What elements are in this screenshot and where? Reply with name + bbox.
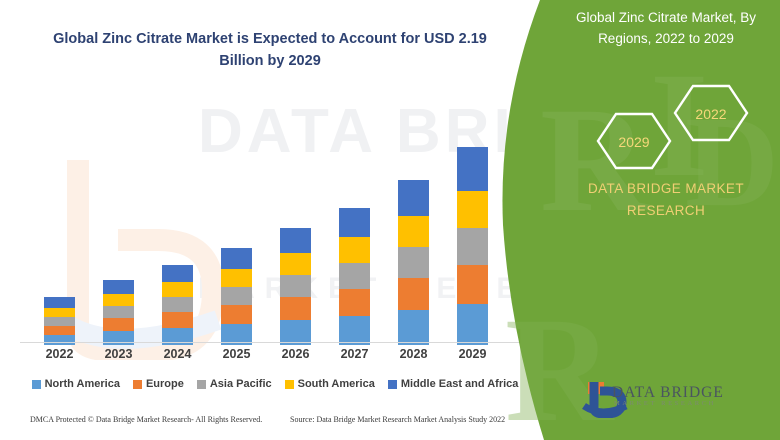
bar-segment-europe: [103, 318, 134, 331]
bar-segment-south-america: [280, 253, 311, 275]
bar-segment-europe: [398, 278, 429, 310]
bar-segment-south-america: [221, 269, 252, 287]
legend-item-middle-east-and-africa[interactable]: Middle East and Africa: [388, 378, 519, 390]
bar-segment-europe: [221, 305, 252, 324]
panel-brand-name: DATA BRIDGE MARKET RESEARCH: [560, 178, 772, 223]
bar-2026: [280, 228, 311, 345]
bar-chart-plot-area: [20, 100, 530, 345]
legend-swatch-icon: [32, 380, 41, 389]
bar-segment-middle-east-and-africa: [162, 265, 193, 282]
bar-segment-south-america: [103, 294, 134, 306]
bar-segment-south-america: [339, 237, 370, 263]
hexagon-label-2029: 2029: [599, 134, 669, 150]
bar-segment-middle-east-and-africa: [339, 208, 370, 237]
bar-2022: [44, 297, 75, 345]
x-axis-label-2027: 2027: [325, 347, 385, 361]
bar-segment-middle-east-and-africa: [221, 248, 252, 269]
hexagon-label-2022: 2022: [676, 106, 746, 122]
bar-2027: [339, 208, 370, 345]
legend-swatch-icon: [197, 380, 206, 389]
bar-segment-middle-east-and-africa: [457, 147, 488, 191]
hexagon-outlines-icon: [588, 82, 758, 172]
legend-swatch-icon: [285, 380, 294, 389]
x-axis-label-2023: 2023: [89, 347, 149, 361]
bar-segment-north-america: [44, 335, 75, 345]
footer-copyright: DMCA Protected © Data Bridge Market Rese…: [30, 415, 262, 424]
bar-segment-middle-east-and-africa: [398, 180, 429, 216]
bar-segment-south-america: [162, 282, 193, 297]
bar-segment-asia-pacific: [162, 297, 193, 312]
legend-swatch-icon: [388, 380, 397, 389]
legend-label: South America: [298, 378, 375, 390]
x-axis-label-2022: 2022: [30, 347, 90, 361]
bar-2023: [103, 280, 134, 345]
x-axis-label-2028: 2028: [384, 347, 444, 361]
bar-segment-middle-east-and-africa: [280, 228, 311, 253]
footer-source: Source: Data Bridge Market Research Mark…: [290, 415, 505, 424]
footer: DMCA Protected © Data Bridge Market Rese…: [0, 415, 540, 437]
hexagon-group: 2022 2029: [588, 82, 758, 172]
legend-label: North America: [45, 378, 120, 390]
legend-swatch-icon: [133, 380, 142, 389]
x-axis-labels: 20222023202420252026202720282029: [20, 347, 530, 367]
bar-segment-asia-pacific: [44, 317, 75, 326]
bar-segment-europe: [44, 326, 75, 335]
legend-item-asia-pacific[interactable]: Asia Pacific: [197, 378, 272, 390]
bar-segment-asia-pacific: [339, 263, 370, 289]
panel-title: Global Zinc Citrate Market, By Regions, …: [566, 8, 766, 50]
x-axis-label-2026: 2026: [266, 347, 326, 361]
legend-item-north-america[interactable]: North America: [32, 378, 120, 390]
bar-segment-europe: [280, 297, 311, 320]
bar-segment-middle-east-and-africa: [44, 297, 75, 308]
bar-2028: [398, 180, 429, 345]
bar-segment-north-america: [398, 310, 429, 345]
bar-segment-south-america: [44, 308, 75, 317]
bar-segment-asia-pacific: [280, 275, 311, 297]
bar-segment-asia-pacific: [103, 306, 134, 318]
bar-segment-asia-pacific: [221, 287, 252, 305]
x-axis-line: [20, 342, 530, 343]
bar-2024: [162, 265, 193, 345]
bar-segment-europe: [457, 265, 488, 304]
bar-segment-europe: [162, 312, 193, 328]
bar-segment-south-america: [457, 191, 488, 228]
bar-segment-middle-east-and-africa: [103, 280, 134, 294]
legend-label: Asia Pacific: [210, 378, 272, 390]
bar-segment-asia-pacific: [398, 247, 429, 278]
infographic-canvas: DATA BRIDGE MARKET RESEARCH Global Zinc …: [0, 0, 780, 440]
chart-legend: North AmericaEuropeAsia PacificSouth Ame…: [20, 376, 530, 392]
bar-2025: [221, 248, 252, 345]
bar-segment-europe: [339, 289, 370, 316]
panel-brand-line2: RESEARCH: [560, 200, 772, 222]
x-axis-label-2024: 2024: [148, 347, 208, 361]
chart-title: Global Zinc Citrate Market is Expected t…: [30, 28, 510, 73]
x-axis-label-2025: 2025: [207, 347, 267, 361]
legend-label: Europe: [146, 378, 184, 390]
bar-2029: [457, 147, 488, 345]
bar-segment-asia-pacific: [457, 228, 488, 265]
panel-brand-line1: DATA BRIDGE MARKET: [560, 178, 772, 200]
logo-subtext: MARKET RESEARCH: [614, 400, 716, 407]
legend-item-europe[interactable]: Europe: [133, 378, 184, 390]
legend-item-south-america[interactable]: South America: [285, 378, 375, 390]
x-axis-label-2029: 2029: [443, 347, 503, 361]
bar-segment-north-america: [339, 316, 370, 345]
bar-segment-south-america: [398, 216, 429, 247]
bar-segment-north-america: [457, 304, 488, 345]
